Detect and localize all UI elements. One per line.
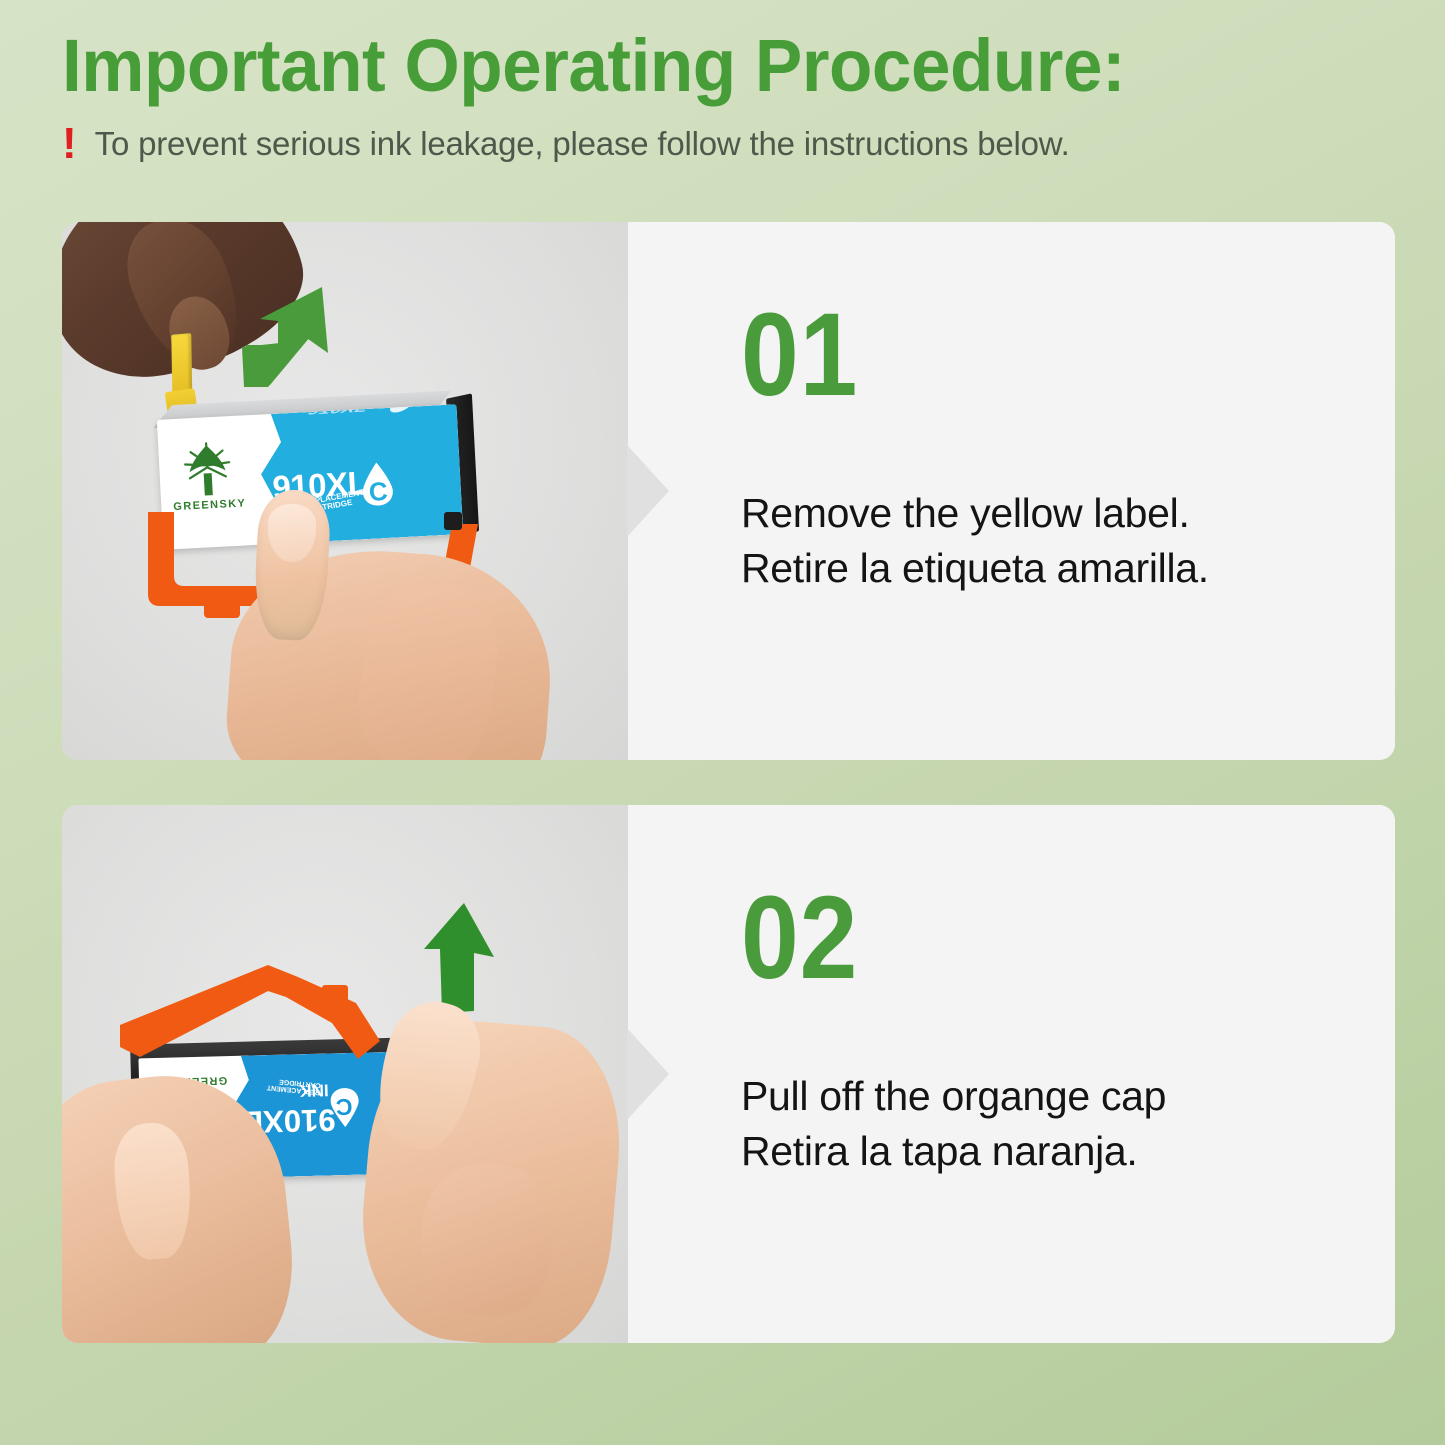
warning-row: ! To prevent serious ink leakage, please… [62,119,1395,163]
page-subtitle: To prevent serious ink leakage, please f… [95,125,1070,163]
step-card-02: GREENSKY 910XL INK REPLACEMENT CARTRIDGE… [62,805,1395,1343]
step-02-instruction-en: Pull off the organge cap [741,1069,1395,1124]
panel-divider-chevron [627,445,669,537]
step-number-02: 02 [741,879,1317,997]
exclamation-icon: ! [62,122,77,166]
panel-divider-chevron [627,1028,669,1120]
step-02-instruction-es: Retira la tapa naranja. [741,1124,1395,1179]
step-01-instruction-en: Remove the yellow label. [741,486,1395,541]
step-01-instruction-es: Retire la etiqueta amarilla. [741,541,1395,596]
right-hand-knuckles [422,1165,550,1315]
step-number-01: 01 [741,296,1317,414]
step-card-01: GREENSKY 910XL 910XL INK REPLACEMENT CAR… [62,222,1395,760]
page-header: Important Operating Procedure: ! To prev… [0,0,1445,163]
steps-container: GREENSKY 910XL 910XL INK REPLACEMENT CAR… [62,222,1395,1343]
step-02-photo: GREENSKY 910XL INK REPLACEMENT CARTRIDGE… [62,805,628,1343]
cartridge-color-code: C [335,1093,352,1120]
green-up-arrow-icon [414,903,500,1013]
cartridge-color-code: C [368,476,388,508]
step-01-photo: GREENSKY 910XL 910XL INK REPLACEMENT CAR… [62,222,628,760]
page-title: Important Operating Procedure: [62,28,1342,105]
tree-logo-icon [180,440,235,499]
green-up-right-arrow-icon [234,285,339,390]
step-02-text: 02 Pull off the organge cap Retira la ta… [628,805,1395,1343]
step-01-text: 01 Remove the yellow label. Retire la et… [628,222,1395,760]
orange-cap [118,963,416,1075]
